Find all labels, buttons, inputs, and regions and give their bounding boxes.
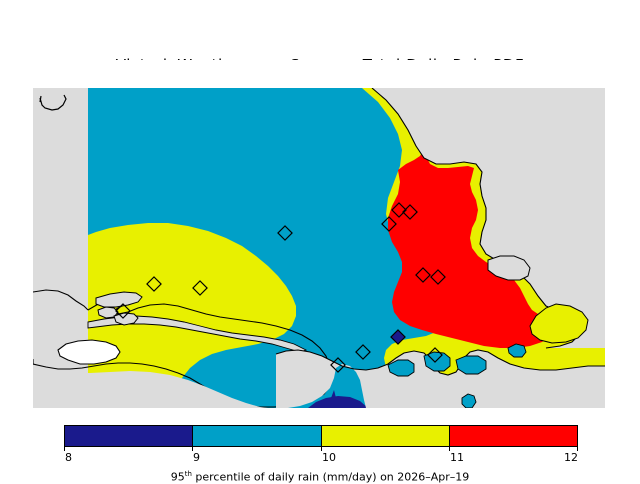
caption-prefix: 95 <box>171 471 185 484</box>
colorbar-caption: 95th percentile of daily rain (mm/day) o… <box>0 470 640 484</box>
colorbar[interactable] <box>64 425 578 447</box>
map-panel[interactable] <box>0 60 640 410</box>
tick-label: 9 <box>193 451 200 464</box>
caption-superscript: th <box>185 470 192 478</box>
colorbar-area: 8 9 10 11 12 95th percentile of daily ra… <box>0 420 640 480</box>
colorbar-ticks: 8 9 10 11 12 <box>64 447 578 465</box>
island-patch-d <box>462 394 476 408</box>
rainfall-contour-map[interactable] <box>0 60 640 410</box>
colorbar-segment-8-9[interactable] <box>65 426 193 446</box>
screenshot-root: VictoriaWeather.ca -- Summer Total Daily… <box>0 0 640 480</box>
tick-label: 11 <box>450 451 464 464</box>
colorbar-segment-9-10[interactable] <box>193 426 321 446</box>
colorbar-segment-10-11[interactable] <box>322 426 450 446</box>
tick-label: 10 <box>322 451 336 464</box>
tick-label: 12 <box>564 451 578 464</box>
caption-rest: percentile of daily rain (mm/day) on 202… <box>192 471 469 484</box>
colorbar-segment-11-12[interactable] <box>450 426 577 446</box>
tick-label: 8 <box>65 451 72 464</box>
